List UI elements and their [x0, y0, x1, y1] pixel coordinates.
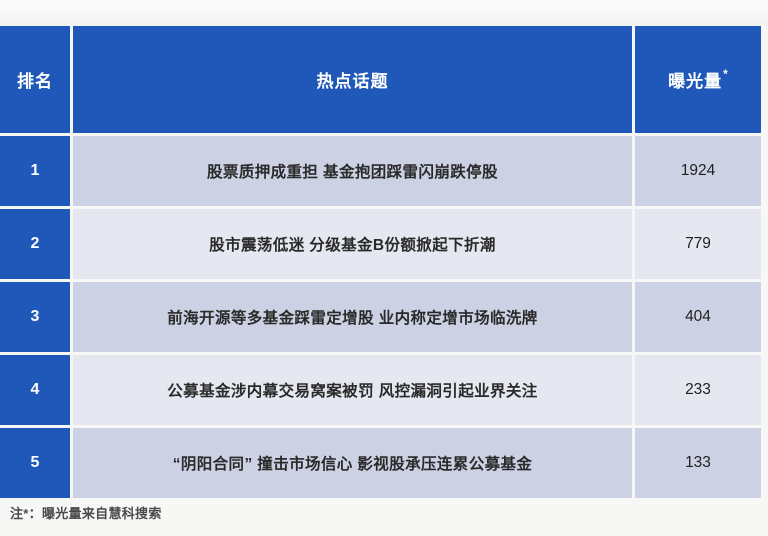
cell-topic: 前海开源等多基金踩雷定增股 业内称定增市场临洗牌	[73, 282, 632, 352]
cell-rank: 2	[0, 209, 70, 279]
topic-value: 前海开源等多基金踩雷定增股 业内称定增市场临洗牌	[167, 306, 537, 328]
cell-exposure: 1924	[635, 136, 761, 206]
table-row: 5 “阴阳合同” 撞击市场信心 影视股承压连累公募基金 133	[0, 428, 758, 498]
topic-value: 股市震荡低迷 分级基金B份额掀起下折潮	[209, 233, 496, 255]
cell-rank: 3	[0, 282, 70, 352]
rank-value: 3	[31, 308, 40, 326]
table-row: 3 前海开源等多基金踩雷定增股 业内称定增市场临洗牌 404	[0, 282, 758, 352]
cell-exposure: 404	[635, 282, 761, 352]
table-row: 2 股市震荡低迷 分级基金B份额掀起下折潮 779	[0, 209, 758, 279]
exposure-value: 1924	[681, 162, 715, 180]
column-header-exposure-label: 曝光量	[668, 67, 722, 92]
column-header-topic: 热点话题	[73, 26, 632, 133]
table-row: 4 公募基金涉内幕交易窝案被罚 风控漏洞引起业界关注 233	[0, 355, 758, 425]
rank-value: 4	[31, 381, 40, 399]
topic-value: 股票质押成重担 基金抱团踩雷闪崩跌停股	[207, 160, 498, 182]
topic-value: “阴阳合同” 撞击市场信心 影视股承压连累公募基金	[173, 452, 533, 474]
ranking-table-page: 排名 热点话题 曝光量* 1 股票质押成重担 基金抱团踩雷闪崩跌停股 1924	[0, 0, 768, 536]
cell-exposure: 133	[635, 428, 761, 498]
column-header-exposure: 曝光量*	[635, 26, 761, 133]
cell-topic: “阴阳合同” 撞击市场信心 影视股承压连累公募基金	[73, 428, 632, 498]
topic-value: 公募基金涉内幕交易窝案被罚 风控漏洞引起业界关注	[167, 379, 537, 401]
exposure-value: 233	[685, 381, 711, 399]
table-header-row: 排名 热点话题 曝光量*	[0, 26, 758, 133]
column-header-topic-label: 热点话题	[317, 67, 389, 92]
hot-topics-ranking-table: 排名 热点话题 曝光量* 1 股票质押成重担 基金抱团踩雷闪崩跌停股 1924	[0, 26, 758, 498]
column-header-rank-label: 排名	[17, 67, 53, 92]
rank-value: 2	[31, 235, 40, 253]
table-row: 1 股票质押成重担 基金抱团踩雷闪崩跌停股 1924	[0, 136, 758, 206]
exposure-value: 779	[685, 235, 711, 253]
exposure-value: 133	[685, 454, 711, 472]
cell-topic: 公募基金涉内幕交易窝案被罚 风控漏洞引起业界关注	[73, 355, 632, 425]
column-header-rank: 排名	[0, 26, 70, 133]
exposure-value: 404	[685, 308, 711, 326]
cell-topic: 股票质押成重担 基金抱团踩雷闪崩跌停股	[73, 136, 632, 206]
cell-exposure: 233	[635, 355, 761, 425]
cell-topic: 股市震荡低迷 分级基金B份额掀起下折潮	[73, 209, 632, 279]
table-footnote: 注*：曝光量来自慧科搜索	[10, 503, 162, 522]
cell-exposure: 779	[635, 209, 761, 279]
rank-value: 5	[31, 454, 40, 472]
rank-value: 1	[31, 162, 40, 180]
cell-rank: 1	[0, 136, 70, 206]
cell-rank: 4	[0, 355, 70, 425]
cell-rank: 5	[0, 428, 70, 498]
